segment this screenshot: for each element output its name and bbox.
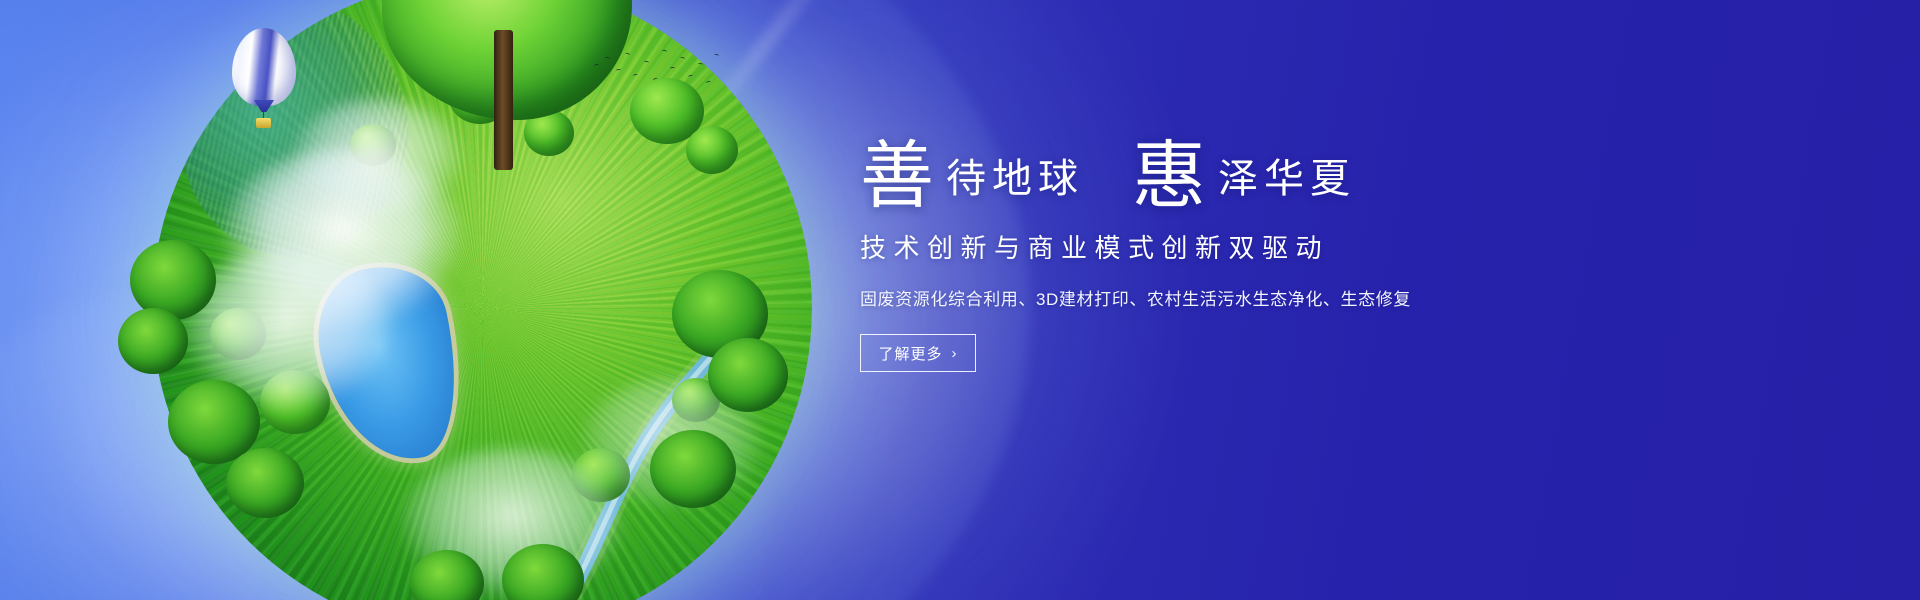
hot-air-balloon-icon — [232, 28, 296, 128]
balloon-envelope — [232, 28, 296, 106]
balloon-basket — [256, 118, 271, 128]
balloon-skirt — [254, 100, 274, 112]
rim-tree — [118, 308, 188, 374]
headline-lead-2: 惠 — [1132, 142, 1206, 210]
description: 固废资源化综合利用、3D建材打印、农村生活污水生态净化、生态修复 — [860, 285, 1480, 310]
learn-more-button[interactable]: 了解更多 › — [860, 334, 976, 372]
globe-tree — [686, 126, 738, 174]
rim-tree — [130, 240, 216, 320]
headline-lead-1: 善 — [860, 142, 934, 210]
rim-tree — [708, 338, 788, 412]
headline-rest-2: 泽华夏 — [1218, 159, 1356, 199]
bird-flock-icon — [592, 48, 722, 94]
rim-tree — [226, 448, 304, 518]
headline-rest-1: 待地球 — [946, 159, 1084, 199]
tree-trunk — [494, 30, 513, 170]
hero-banner: 善 待地球 惠 泽华夏 技术创新与商业模式创新双驱动 固废资源化综合利用、3D建… — [0, 0, 1920, 600]
hero-copy: 善 待地球 惠 泽华夏 技术创新与商业模式创新双驱动 固废资源化综合利用、3D建… — [860, 120, 1480, 372]
headline-group-2: 惠 泽华夏 — [1132, 138, 1356, 206]
subtitle: 技术创新与商业模式创新双驱动 — [860, 228, 1480, 265]
learn-more-label: 了解更多 — [878, 343, 942, 364]
chevron-right-icon: › — [952, 346, 958, 361]
rim-tree — [650, 430, 736, 508]
headline: 善 待地球 惠 泽华夏 — [860, 120, 1480, 206]
headline-group-1: 善 待地球 — [860, 138, 1084, 206]
